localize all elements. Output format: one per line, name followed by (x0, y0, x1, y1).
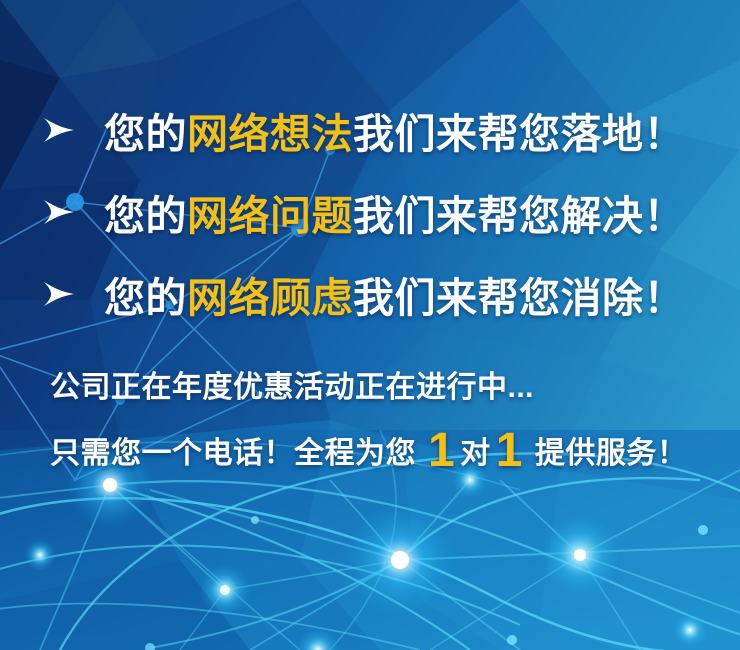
headline-1-suffix: 我们来帮您落地！ (353, 111, 685, 157)
headline-3-text: 您的网络顾虑我们来帮您消除！ (104, 264, 685, 324)
headline-row-2: 您的网络问题我们来帮您解决！ (0, 184, 740, 240)
headline-row-1: 您的网络想法我们来帮您落地！ (0, 102, 740, 158)
headline-1-prefix: 您的 (104, 111, 187, 157)
headline-3-suffix: 我们来帮您消除！ (353, 275, 685, 321)
one-to-one-second-number: 1 (491, 432, 528, 470)
subline-2-part2: 提供服务！ (535, 428, 688, 472)
arrow-bullet-icon (42, 116, 76, 144)
headline-1-accent: 网络想法 (187, 111, 353, 157)
headline-3-accent: 网络顾虑 (187, 275, 353, 321)
one-to-one-first-number: 1 (423, 432, 460, 470)
arrow-bullet-icon (42, 198, 76, 226)
arrow-bullet-icon (42, 280, 76, 308)
promo-banner: 您的网络想法我们来帮您落地！ 您的网络问题我们来帮您解决！ 您的网络顾虑我们来帮… (0, 0, 740, 650)
banner-content: 您的网络想法我们来帮您落地！ 您的网络问题我们来帮您解决！ 您的网络顾虑我们来帮… (0, 0, 740, 650)
headline-2-prefix: 您的 (104, 193, 187, 239)
headline-row-3: 您的网络顾虑我们来帮您消除！ (0, 266, 740, 322)
one-to-one-middle: 对 (460, 428, 491, 472)
subline-2-part1: 只需您一个电话！全程为您 (50, 428, 416, 472)
promo-subline-1: 公司正在年度优惠活动正在进行中... (50, 362, 534, 406)
headline-2-accent: 网络问题 (187, 193, 353, 239)
headline-1-text: 您的网络想法我们来帮您落地！ (104, 100, 685, 160)
headline-3-prefix: 您的 (104, 275, 187, 321)
promo-subline-2: 只需您一个电话！全程为您 1 对 1 提供服务！ (50, 428, 687, 472)
headline-2-text: 您的网络问题我们来帮您解决！ (104, 182, 685, 242)
headline-2-suffix: 我们来帮您解决！ (353, 193, 685, 239)
